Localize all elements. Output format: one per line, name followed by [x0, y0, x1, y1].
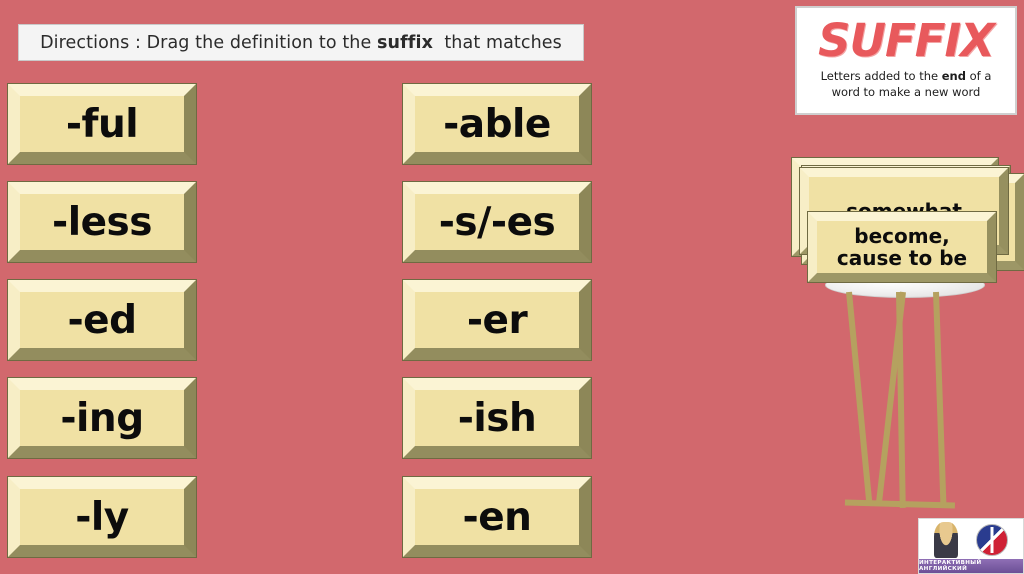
suffix-tile-less[interactable]: -less — [8, 182, 196, 262]
side-table — [800, 272, 1010, 547]
suffix-tile-label: -en — [463, 498, 532, 537]
table-leg — [846, 292, 872, 504]
watermark-caption: ИНТЕРАКТИВНЫЙ АНГЛИЙСКИЙ — [919, 559, 1023, 573]
watermark-graphics — [919, 519, 1023, 559]
suffix-tile-en[interactable]: -en — [403, 477, 591, 557]
us-uk-flag-icon — [976, 524, 1008, 556]
teacher-avatar-icon — [934, 522, 958, 558]
definition-card-stack[interactable]: somewhat become, cause to be — [780, 150, 1024, 290]
lesson-canvas: Directions : Drag the definition to the … — [0, 0, 1024, 574]
suffix-subtitle-before: Letters added to the — [821, 69, 942, 83]
suffix-subtitle-emphasis: end — [942, 69, 966, 83]
suffix-tile-ful[interactable]: -ful — [8, 84, 196, 164]
table-leg — [933, 292, 947, 508]
channel-watermark: ИНТЕРАКТИВНЫЙ АНГЛИЙСКИЙ — [918, 518, 1024, 574]
suffix-definition-card: SUFFIX Letters added to the end of a wor… — [795, 6, 1017, 115]
suffix-tile-er[interactable]: -er — [403, 280, 591, 360]
suffix-tile-label: -ful — [66, 105, 138, 144]
suffix-subtitle: Letters added to the end of a word to ma… — [821, 69, 992, 99]
directions-text-prefix: Directions : Drag the definition to the — [40, 33, 377, 53]
definition-card-label: become, cause to be — [837, 225, 967, 270]
suffix-tile-able[interactable]: -able — [403, 84, 591, 164]
suffix-tile-ed[interactable]: -ed — [8, 280, 196, 360]
suffix-tile-label: -ing — [60, 399, 143, 438]
suffix-tile-ing[interactable]: -ing — [8, 378, 196, 458]
suffix-tile-label: -er — [467, 301, 527, 340]
suffix-tile-label: -ish — [458, 399, 537, 438]
suffix-tile-label: -ed — [67, 301, 136, 340]
directions-banner: Directions : Drag the definition to the … — [18, 24, 584, 61]
suffix-tile-s-es[interactable]: -s/-es — [403, 182, 591, 262]
suffix-tile-label: -s/-es — [439, 203, 556, 242]
suffix-tile-label: -ly — [75, 498, 128, 537]
directions-text-emphasis: suffix — [377, 33, 433, 53]
suffix-tile-ly[interactable]: -ly — [8, 477, 196, 557]
suffix-tile-ish[interactable]: -ish — [403, 378, 591, 458]
definition-card-become[interactable]: become, cause to be — [808, 212, 996, 282]
suffix-title: SUFFIX — [818, 18, 994, 63]
suffix-tile-label: -able — [443, 105, 551, 144]
suffix-tile-label: -less — [52, 203, 152, 242]
directions-text-suffix: that matches — [433, 33, 562, 53]
